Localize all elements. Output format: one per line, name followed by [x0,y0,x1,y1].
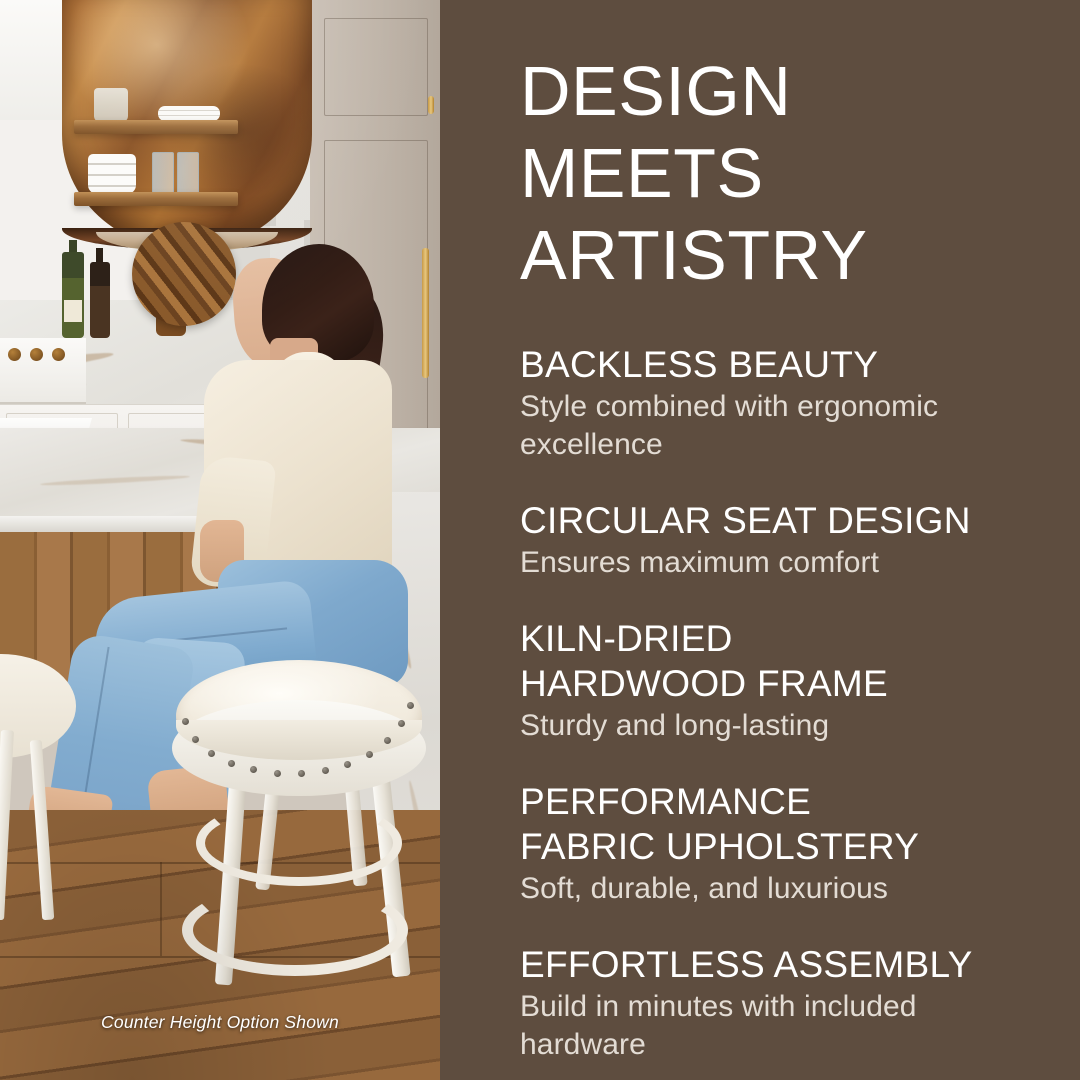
feature-title: PERFORMANCE FABRIC UPHOLSTERY [520,779,1028,869]
lifestyle-product-photo: Counter Height Option Shown [0,0,440,1080]
kitchen-range [0,338,86,404]
page-title: DESIGN MEETS ARTISTRY [520,50,1028,296]
feature-subtitle: Sturdy and long-lasting [520,707,1028,745]
feature-block-performance-fabric-upholstery: PERFORMANCE FABRIC UPHOLSTERY Soft, dura… [520,779,1028,908]
feature-block-backless-beauty: BACKLESS BEAUTY Style combined with ergo… [520,342,1028,464]
feature-title: BACKLESS BEAUTY [520,342,1028,387]
vinegar-bottle [90,262,110,338]
feature-block-effortless-assembly: EFFORTLESS ASSEMBLY Build in minutes wit… [520,942,1028,1064]
feature-copy-panel: DESIGN MEETS ARTISTRY BACKLESS BEAUTY St… [440,0,1080,1080]
photo-caption: Counter Height Option Shown [0,1012,440,1033]
feature-subtitle: Build in minutes with included hardware [520,988,1028,1064]
floating-shelf-upper [74,120,238,134]
feature-title: KILN-DRIED HARDWOOD FRAME [520,616,1028,706]
feature-title: CIRCULAR SEAT DESIGN [520,498,1028,543]
feature-block-kiln-dried-hardwood-frame: KILN-DRIED HARDWOOD FRAME Sturdy and lon… [520,616,1028,745]
olive-oil-bottle [62,252,84,338]
feature-subtitle: Style combined with ergonomic excellence [520,388,1028,464]
floating-shelf-lower [74,192,238,206]
drinking-glass [152,152,174,196]
stool-footrest-ring [182,884,408,976]
stacked-bowls [88,154,136,194]
drinking-glass [177,152,199,196]
feature-title: EFFORTLESS ASSEMBLY [520,942,1028,987]
product-feature-graphic: Counter Height Option Shown DESIGN MEETS… [0,0,1080,1080]
bottle-label [64,300,82,322]
ceramic-crock [94,88,128,122]
stacked-plates [158,106,220,121]
feature-block-circular-seat-design: CIRCULAR SEAT DESIGN Ensures maximum com… [520,498,1028,582]
feature-subtitle: Soft, durable, and luxurious [520,870,1028,908]
round-cutting-board [132,222,236,326]
stool-upper-stretcher-ring [196,800,402,886]
feature-subtitle: Ensures maximum comfort [520,544,1028,582]
